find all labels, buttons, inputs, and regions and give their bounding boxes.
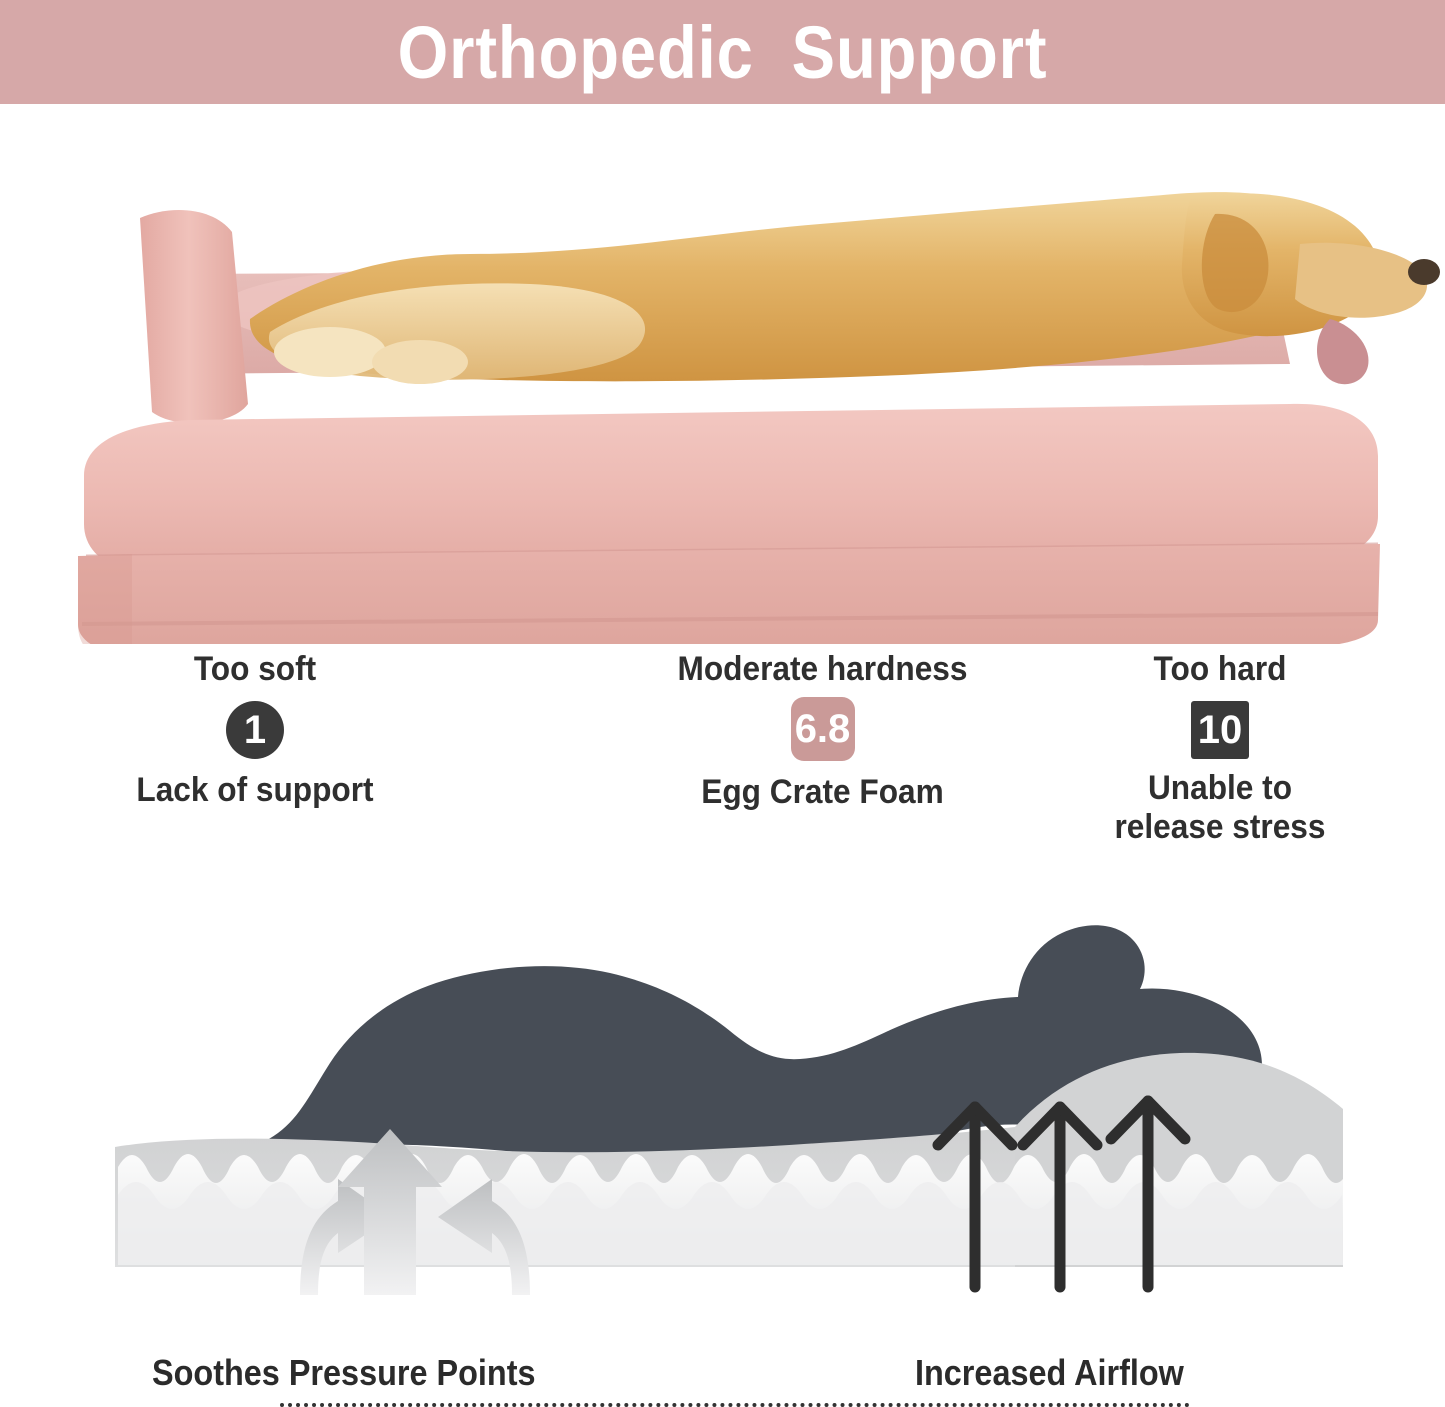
- product-photo: [0, 104, 1445, 644]
- scale-node-too-soft: Too soft 1 Lack of support: [110, 650, 400, 810]
- scale-node-too-hard: Too hard 10 Unable to release stress: [1075, 650, 1365, 847]
- hardness-scale: Too soft 1 Lack of support Moderate hard…: [0, 650, 1445, 890]
- scale-badge-10: 10: [1191, 701, 1249, 759]
- airflow-arrows: [938, 1101, 1185, 1287]
- product-photo-illustration: [0, 104, 1445, 644]
- caption-increased-airflow: Increased Airflow: [915, 1352, 1184, 1394]
- scale-node-bottom-label: Unable to release stress: [1085, 769, 1355, 847]
- foam-diagram-illustration: [0, 895, 1445, 1295]
- scale-node-bottom-label: Lack of support: [120, 771, 390, 810]
- scale-badge-68: 6.8: [791, 697, 855, 761]
- scale-node-bottom-label: Egg Crate Foam: [662, 773, 983, 812]
- page-title: Orthopedic Support: [87, 0, 1359, 104]
- scale-node-bottom-line2: release stress: [1085, 808, 1355, 847]
- scale-node-top-label: Too soft: [120, 650, 390, 689]
- caption-soothes-pressure-points: Soothes Pressure Points: [152, 1352, 536, 1394]
- scale-dotted-line: [280, 1403, 1190, 1407]
- foam-diagram: [0, 895, 1445, 1295]
- header-banner: Orthopedic Support: [0, 0, 1445, 104]
- scale-node-moderate: Moderate hardness 6.8 Egg Crate Foam: [650, 650, 995, 812]
- scale-node-top-label: Too hard: [1085, 650, 1355, 689]
- scale-node-bottom-line1: Unable to: [1085, 769, 1355, 808]
- scale-node-top-label: Moderate hardness: [662, 650, 983, 689]
- scale-badge-1: 1: [226, 701, 284, 759]
